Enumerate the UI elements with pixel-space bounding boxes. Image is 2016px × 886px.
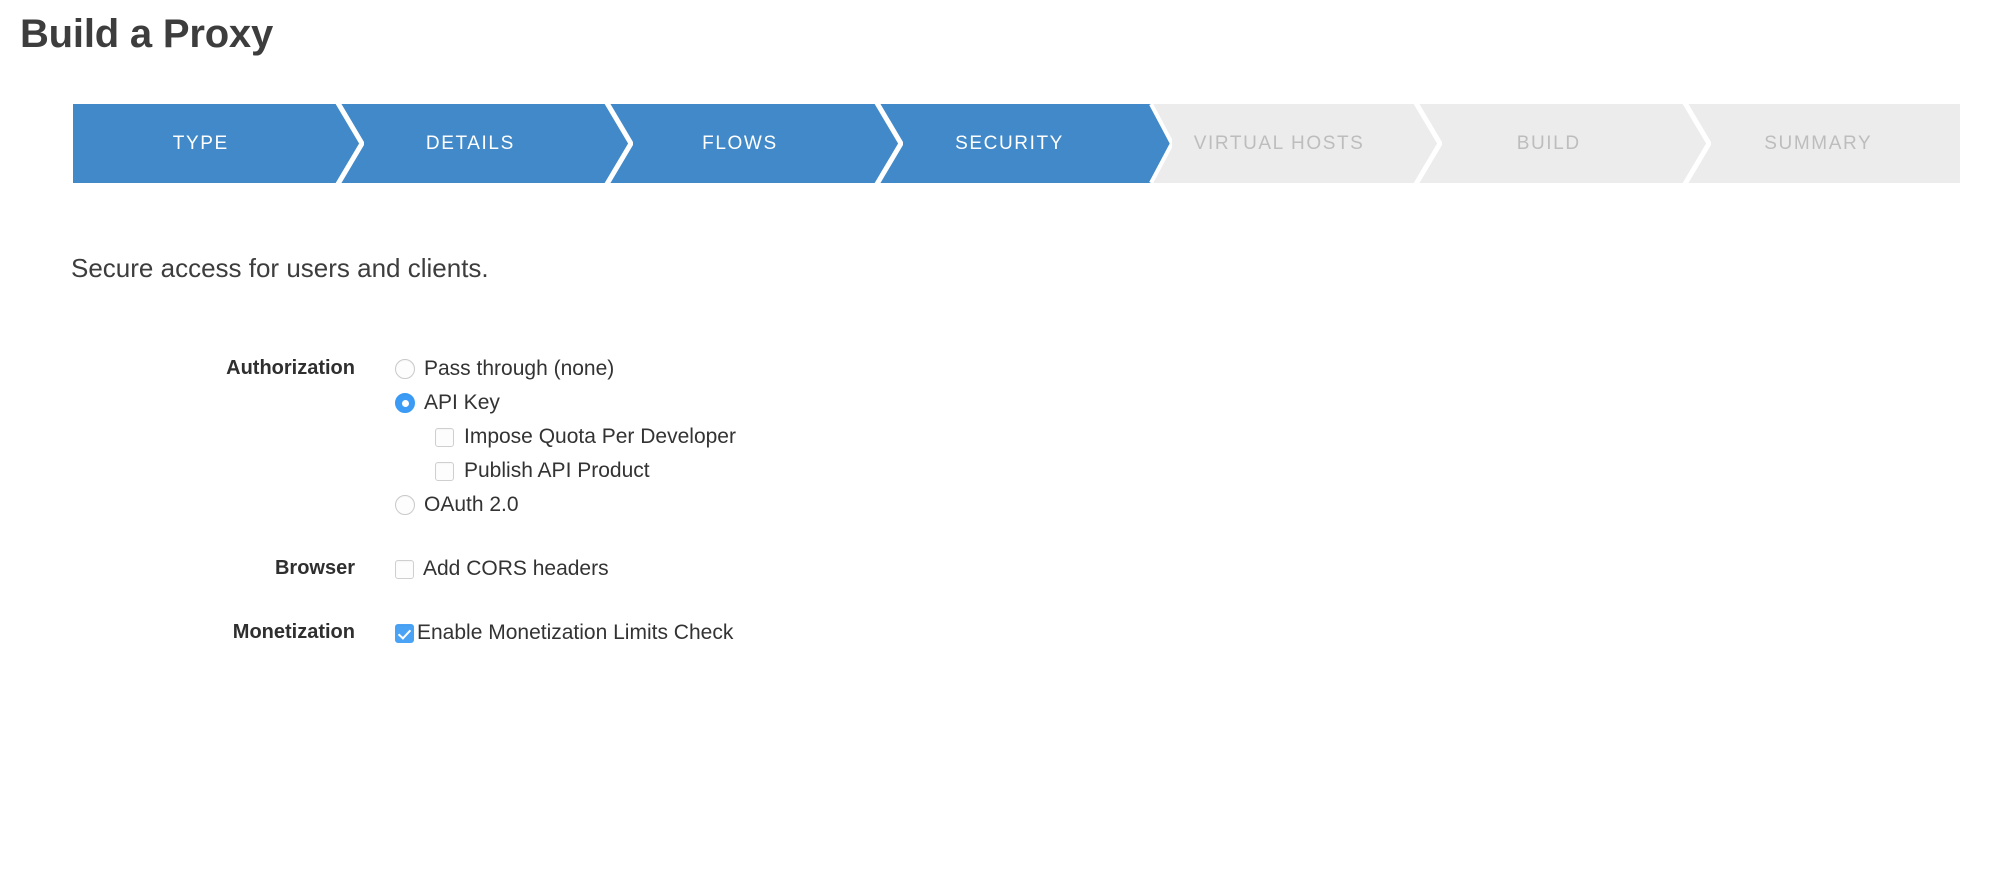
wizard-step-summary[interactable]: SUMMARY bbox=[1690, 104, 1960, 183]
option-label[interactable]: Enable Monetization Limits Check bbox=[417, 620, 733, 646]
option-label[interactable]: OAuth 2.0 bbox=[424, 492, 519, 518]
form-row-browser: BrowserAdd CORS headers bbox=[0, 552, 2016, 586]
security-form: AuthorizationPass through (none)API KeyI… bbox=[0, 352, 2016, 650]
wizard-step-details[interactable]: DETAILS bbox=[343, 104, 613, 183]
option-label[interactable]: Publish API Product bbox=[464, 458, 650, 484]
form-row-controls: Enable Monetization Limits Check bbox=[395, 616, 733, 650]
option-label[interactable]: API Key bbox=[424, 390, 500, 416]
checkbox-unchecked-icon[interactable] bbox=[395, 560, 414, 579]
form-row-label: Authorization bbox=[0, 352, 355, 381]
wizard-step-build[interactable]: BUILD bbox=[1421, 104, 1691, 183]
wizard-step-flows[interactable]: FLOWS bbox=[612, 104, 882, 183]
wizard-step-virtual-hosts[interactable]: VIRTUAL HOSTS bbox=[1151, 104, 1421, 183]
form-row-monetization: MonetizationEnable Monetization Limits C… bbox=[0, 616, 2016, 650]
checkbox-option-add-cors-headers[interactable]: Add CORS headers bbox=[395, 552, 609, 586]
checkbox-unchecked-icon[interactable] bbox=[435, 462, 454, 481]
form-row-controls: Add CORS headers bbox=[395, 552, 609, 586]
radio-unselected-icon[interactable] bbox=[395, 359, 415, 379]
checkbox-option-enable-monetization-limits-check[interactable]: Enable Monetization Limits Check bbox=[395, 616, 733, 650]
option-label[interactable]: Add CORS headers bbox=[423, 556, 609, 582]
option-label[interactable]: Pass through (none) bbox=[424, 356, 614, 382]
wizard-step-label: SUMMARY bbox=[1764, 133, 1886, 155]
wizard-step-security[interactable]: SECURITY bbox=[882, 104, 1152, 183]
checkbox-unchecked-icon[interactable] bbox=[435, 428, 454, 447]
wizard-step-label: VIRTUAL HOSTS bbox=[1194, 133, 1379, 155]
page-title: Build a Proxy bbox=[20, 8, 273, 60]
checkbox-checked-icon[interactable] bbox=[395, 624, 414, 643]
radio-option-api-key[interactable]: API Key bbox=[395, 386, 736, 420]
radio-unselected-icon[interactable] bbox=[395, 495, 415, 515]
wizard-step-label: SECURITY bbox=[955, 133, 1078, 155]
form-row-authorization: AuthorizationPass through (none)API KeyI… bbox=[0, 352, 2016, 522]
radio-option-pass-through-none[interactable]: Pass through (none) bbox=[395, 352, 736, 386]
form-row-label: Browser bbox=[0, 552, 355, 581]
wizard-step-label: BUILD bbox=[1517, 133, 1595, 155]
form-row-controls: Pass through (none)API KeyImpose Quota P… bbox=[395, 352, 736, 522]
checkbox-option-publish-api-product[interactable]: Publish API Product bbox=[435, 454, 736, 488]
option-label[interactable]: Impose Quota Per Developer bbox=[464, 424, 736, 450]
radio-selected-icon[interactable] bbox=[395, 393, 415, 413]
radio-option-oauth-2-0[interactable]: OAuth 2.0 bbox=[395, 488, 736, 522]
wizard-step-label: TYPE bbox=[173, 133, 243, 155]
wizard-step-bar: TYPEDETAILSFLOWSSECURITYVIRTUAL HOSTSBUI… bbox=[73, 104, 1960, 183]
section-intro-text: Secure access for users and clients. bbox=[71, 252, 489, 284]
wizard-step-type[interactable]: TYPE bbox=[73, 104, 343, 183]
wizard-step-label: FLOWS bbox=[702, 133, 792, 155]
wizard-step-label: DETAILS bbox=[426, 133, 529, 155]
form-row-label: Monetization bbox=[0, 616, 355, 645]
checkbox-option-impose-quota-per-developer[interactable]: Impose Quota Per Developer bbox=[435, 420, 736, 454]
